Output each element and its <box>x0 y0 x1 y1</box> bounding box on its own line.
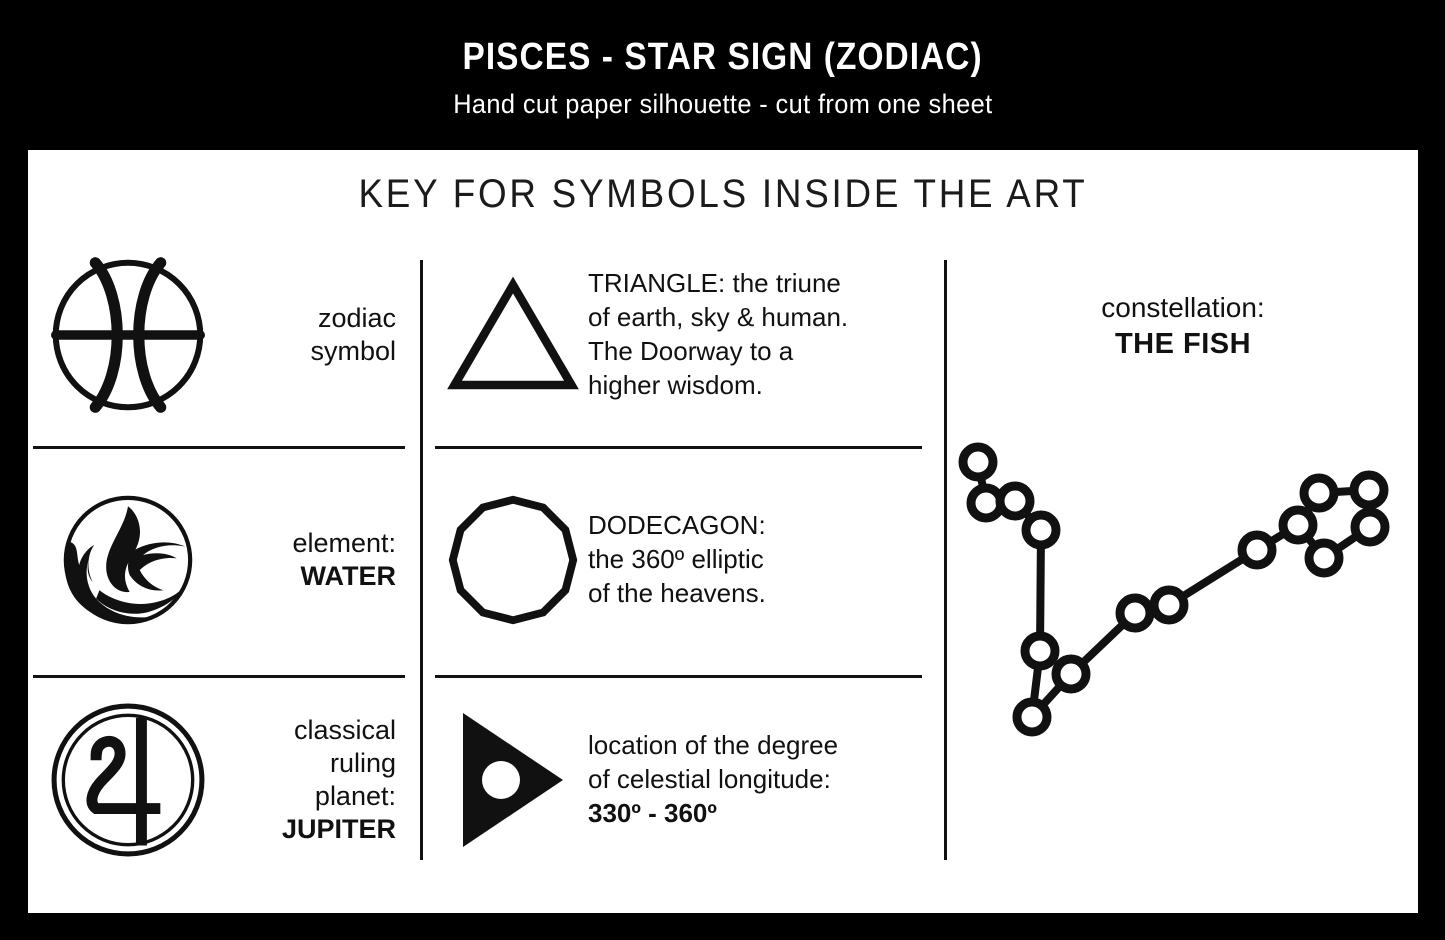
constellation-star <box>1283 510 1313 540</box>
element-label: element: <box>218 527 396 560</box>
key-row-element: element: WATER <box>38 450 408 670</box>
constellation-star <box>1025 636 1055 666</box>
dodecagon-line-1: DODECAGON: <box>588 509 938 543</box>
triangle-line-4: higher wisdom. <box>588 369 938 403</box>
constellation-label: constellation: THE FISH <box>958 290 1408 364</box>
degree-marker-range: 330º - 360º <box>588 797 938 831</box>
poster-root: PISCES - STAR SIGN (ZODIAC) Hand cut pap… <box>0 0 1445 940</box>
constellation-star <box>963 447 993 477</box>
key-row-degree-marker: location of the degree of celestial long… <box>438 680 938 880</box>
zodiac-symbol-line-2: symbol <box>218 335 396 368</box>
degree-marker-triangle-icon <box>438 680 588 880</box>
dodecagon-line-3: of the heavens. <box>588 577 938 611</box>
key-row-ruling-planet-text: classical ruling planet: JUPITER <box>218 714 408 846</box>
constellation-star <box>1242 535 1272 565</box>
jupiter-planet-icon <box>38 680 218 880</box>
key-row-degree-marker-text: location of the degree of celestial long… <box>588 729 938 830</box>
key-row-zodiac-symbol: zodiac symbol <box>38 230 408 440</box>
degree-marker-line-2: of celestial longitude: <box>588 763 938 797</box>
constellation-name: THE FISH <box>958 326 1408 364</box>
triangle-line-1: TRIANGLE: the triune <box>588 267 938 301</box>
constellation-star <box>1056 659 1086 689</box>
constellation-star <box>1354 475 1384 505</box>
pisces-zodiac-symbol-icon <box>38 230 218 440</box>
water-element-icon <box>38 450 218 670</box>
key-panel: KEY FOR SYMBOLS INSIDE THE ART zodiac sy… <box>28 150 1418 913</box>
constellation-star <box>1154 590 1184 620</box>
triangle-line-2: of earth, sky & human. <box>588 301 938 335</box>
key-row-zodiac-symbol-text: zodiac symbol <box>218 302 408 368</box>
ruling-planet-line-1: classical <box>218 714 396 747</box>
zodiac-symbol-line-1: zodiac <box>218 302 396 335</box>
constellation-svg <box>953 420 1413 750</box>
page-subtitle: Hand cut paper silhouette - cut from one… <box>453 89 992 120</box>
key-row-triangle: TRIANGLE: the triune of earth, sky & hum… <box>438 230 938 440</box>
constellation-star <box>1304 478 1334 508</box>
key-row-triangle-text: TRIANGLE: the triune of earth, sky & hum… <box>588 267 938 402</box>
dodecagon-icon <box>438 450 588 670</box>
ruling-planet-line-3: planet: <box>218 780 396 813</box>
constellation-star-map <box>953 420 1413 750</box>
column2-separator-1 <box>435 446 922 449</box>
constellation-star <box>1355 512 1385 542</box>
key-panel-title: KEY FOR SYMBOLS INSIDE THE ART <box>84 172 1363 217</box>
key-row-ruling-planet: classical ruling planet: JUPITER <box>38 680 408 880</box>
column1-separator-2 <box>33 675 405 678</box>
constellation-star <box>1017 702 1047 732</box>
column2-separator-2 <box>435 675 922 678</box>
dodecagon-line-2: the 360º elliptic <box>588 543 938 577</box>
constellation-star <box>1309 543 1339 573</box>
vertical-divider-2 <box>944 260 947 860</box>
degree-marker-line-1: location of the degree <box>588 729 938 763</box>
constellation-label-line-1: constellation: <box>958 290 1408 326</box>
constellation-star <box>1120 598 1150 628</box>
ruling-planet-value: JUPITER <box>218 813 396 846</box>
triangle-line-3: The Doorway to a <box>588 335 938 369</box>
key-row-dodecagon-text: DODECAGON: the 360º elliptic of the heav… <box>588 509 938 610</box>
poster-header: PISCES - STAR SIGN (ZODIAC) Hand cut pap… <box>0 0 1445 150</box>
key-row-element-text: element: WATER <box>218 527 408 593</box>
page-title: PISCES - STAR SIGN (ZODIAC) <box>462 36 982 79</box>
element-value: WATER <box>218 560 396 593</box>
vertical-divider-1 <box>420 260 423 860</box>
column1-separator-1 <box>33 446 405 449</box>
triangle-icon <box>438 230 588 440</box>
key-row-dodecagon: DODECAGON: the 360º elliptic of the heav… <box>438 450 938 670</box>
ruling-planet-line-2: ruling <box>218 747 396 780</box>
constellation-star <box>1000 486 1030 516</box>
constellation-star <box>1026 515 1056 545</box>
